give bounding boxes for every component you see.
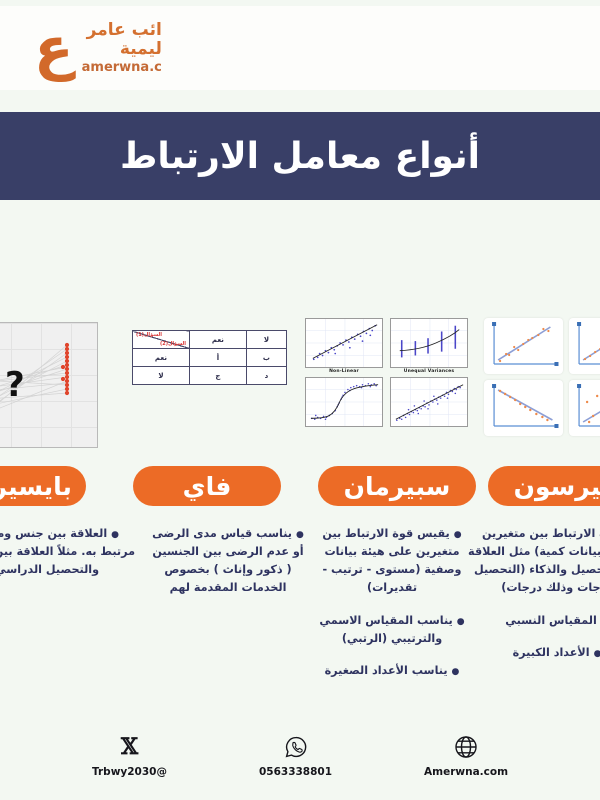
x-glyph: 𝕏 <box>121 734 138 760</box>
description-columns: العلاقة بين جنس ومتغير مرتبط به. مثلاً ا… <box>0 525 600 715</box>
assumption-scatter-grid: Unequal Variances <box>305 318 468 427</box>
panel-weak-positive <box>569 380 600 436</box>
footer-item-whatsapp[interactable]: 0563338801 <box>259 734 332 778</box>
chart-phi: لا نعم السؤال(1) السؤال(2) ب أ نعم د <box>127 300 287 385</box>
pill-biserial[interactable]: بايسيريال <box>0 466 86 506</box>
logo-line-1: ائب عامر <box>82 21 162 40</box>
list-item: المقياس النسبي <box>468 612 600 630</box>
contingency-wrap: لا نعم السؤال(1) السؤال(2) ب أ نعم د <box>127 330 287 385</box>
chart-spearman: Unequal Variances <box>303 300 468 427</box>
strong-positive-svg <box>484 318 563 374</box>
footer-item-x[interactable]: 𝕏 @Trbwy2030 <box>92 734 167 778</box>
footer-label-website: Amerwna.com <box>424 766 508 778</box>
table-row: ب أ نعم <box>133 349 287 367</box>
panel-errorbar-curve <box>390 318 468 368</box>
x-twitter-icon: 𝕏 <box>116 734 142 760</box>
footer-item-website[interactable]: Amerwna.com <box>424 734 508 778</box>
globe-icon <box>453 734 479 760</box>
chart-row: ? لا نعم السؤال(1) السؤال(2) ب <box>0 300 600 460</box>
cell-d: د <box>246 367 286 385</box>
caption-non-linear: Non-Linear <box>305 369 383 374</box>
column-phi: يناسب قياس مدى الرضى أو عدم الرضى بين ال… <box>152 525 304 612</box>
logo-bar: ائب عامر ليمية amerwna.c ع <box>0 6 600 90</box>
column-biserial: العلاقة بين جنس ومتغير مرتبط به. مثلاً ا… <box>0 525 136 593</box>
table-row: لا نعم السؤال(1) السؤال(2) <box>133 331 287 349</box>
list-item: قوة الارتباط بين متغيرين درجات (بيانات ك… <box>468 525 600 598</box>
chart-pearson <box>482 300 600 436</box>
list-item: يقيس قوة الارتباط بين متغيرين على هيئة ب… <box>318 525 466 598</box>
column-spearman: يقيس قوة الارتباط بين متغيرين على هيئة ب… <box>318 525 466 694</box>
cell-b: ب <box>246 349 286 367</box>
footer-contact-bar: Amerwna.com 0563338801 𝕏 @Trbwy2030 <box>0 726 600 786</box>
pill-phi[interactable]: فاي <box>133 466 281 506</box>
cell-a: أ <box>189 349 246 367</box>
corner-label-q1: السؤال(1) <box>136 332 162 338</box>
title-banner: أنواع معامل الارتباط <box>0 112 600 200</box>
list-item: يناسب قياس مدى الرضى أو عدم الرضى بين ال… <box>152 525 304 598</box>
cell-c: ج <box>189 367 246 385</box>
infographic-page: ائب عامر ليمية amerwna.c ع أنواع معامل ا… <box>0 0 600 800</box>
col-header-no: لا <box>246 331 286 349</box>
weak-positive-svg <box>569 380 600 436</box>
ain-letter-icon: ع <box>34 22 74 74</box>
panel-linear-scatter <box>305 318 383 368</box>
corner-label-q2: السؤال(2) <box>160 341 186 347</box>
col-header-yes: نعم <box>189 331 246 349</box>
contingency-table: لا نعم السؤال(1) السؤال(2) ب أ نعم د <box>132 330 287 385</box>
table-corner-cell: السؤال(1) السؤال(2) <box>133 331 190 349</box>
panel-sigmoid-scatter <box>305 377 383 427</box>
brand-logo: ائب عامر ليمية amerwna.c ع <box>34 21 162 76</box>
list-item: يناسب الأعداد الصغيرة <box>318 662 466 680</box>
dense-scatter-svg <box>391 378 467 426</box>
list-item: الأعداد الكبيرة <box>468 644 600 662</box>
footer-label-whatsapp: 0563338801 <box>259 766 332 778</box>
panel-negative <box>484 380 563 436</box>
footer-label-x: @Trbwy2030 <box>92 766 167 778</box>
question-mark-label: ? <box>5 365 25 405</box>
chart-biserial: ? <box>0 300 98 448</box>
correlation-strength-grid <box>484 318 600 436</box>
linear-scatter-svg <box>306 319 382 367</box>
column-pearson: قوة الارتباط بين متغيرين درجات (بيانات ك… <box>468 525 600 676</box>
errorbar-svg <box>391 319 467 367</box>
logo-line-2: ليمية <box>82 40 162 59</box>
list-item: يناسب المقياس الاسمي والترتيبي (الرتبي) <box>318 612 466 648</box>
caption-unequal-variances: Unequal Variances <box>390 369 468 374</box>
pill-pearson[interactable]: بيرسون <box>488 466 600 506</box>
logo-text-block: ائب عامر ليمية amerwna.c <box>82 21 162 76</box>
panel-perfect-positive <box>569 318 600 374</box>
whatsapp-icon <box>283 734 309 760</box>
category-pills: بايسيريال فاي سبيرمان بيرسون <box>0 466 600 508</box>
logo-website: amerwna.c <box>82 61 162 76</box>
row-header-no: لا <box>133 367 190 385</box>
perfect-positive-svg <box>569 318 600 374</box>
panel-dense-linear-scatter <box>390 377 468 427</box>
page-title: أنواع معامل الارتباط <box>120 136 480 177</box>
sigmoid-svg <box>306 378 382 426</box>
negative-svg <box>484 380 563 436</box>
slopegraph-question-icon: ? <box>0 322 98 448</box>
panel-strong-positive <box>484 318 563 374</box>
row-header-yes: نعم <box>133 349 190 367</box>
list-item: العلاقة بين جنس ومتغير مرتبط به. مثلاً ا… <box>0 525 136 579</box>
table-row: د ج لا <box>133 367 287 385</box>
pill-spearman[interactable]: سبيرمان <box>318 466 476 506</box>
